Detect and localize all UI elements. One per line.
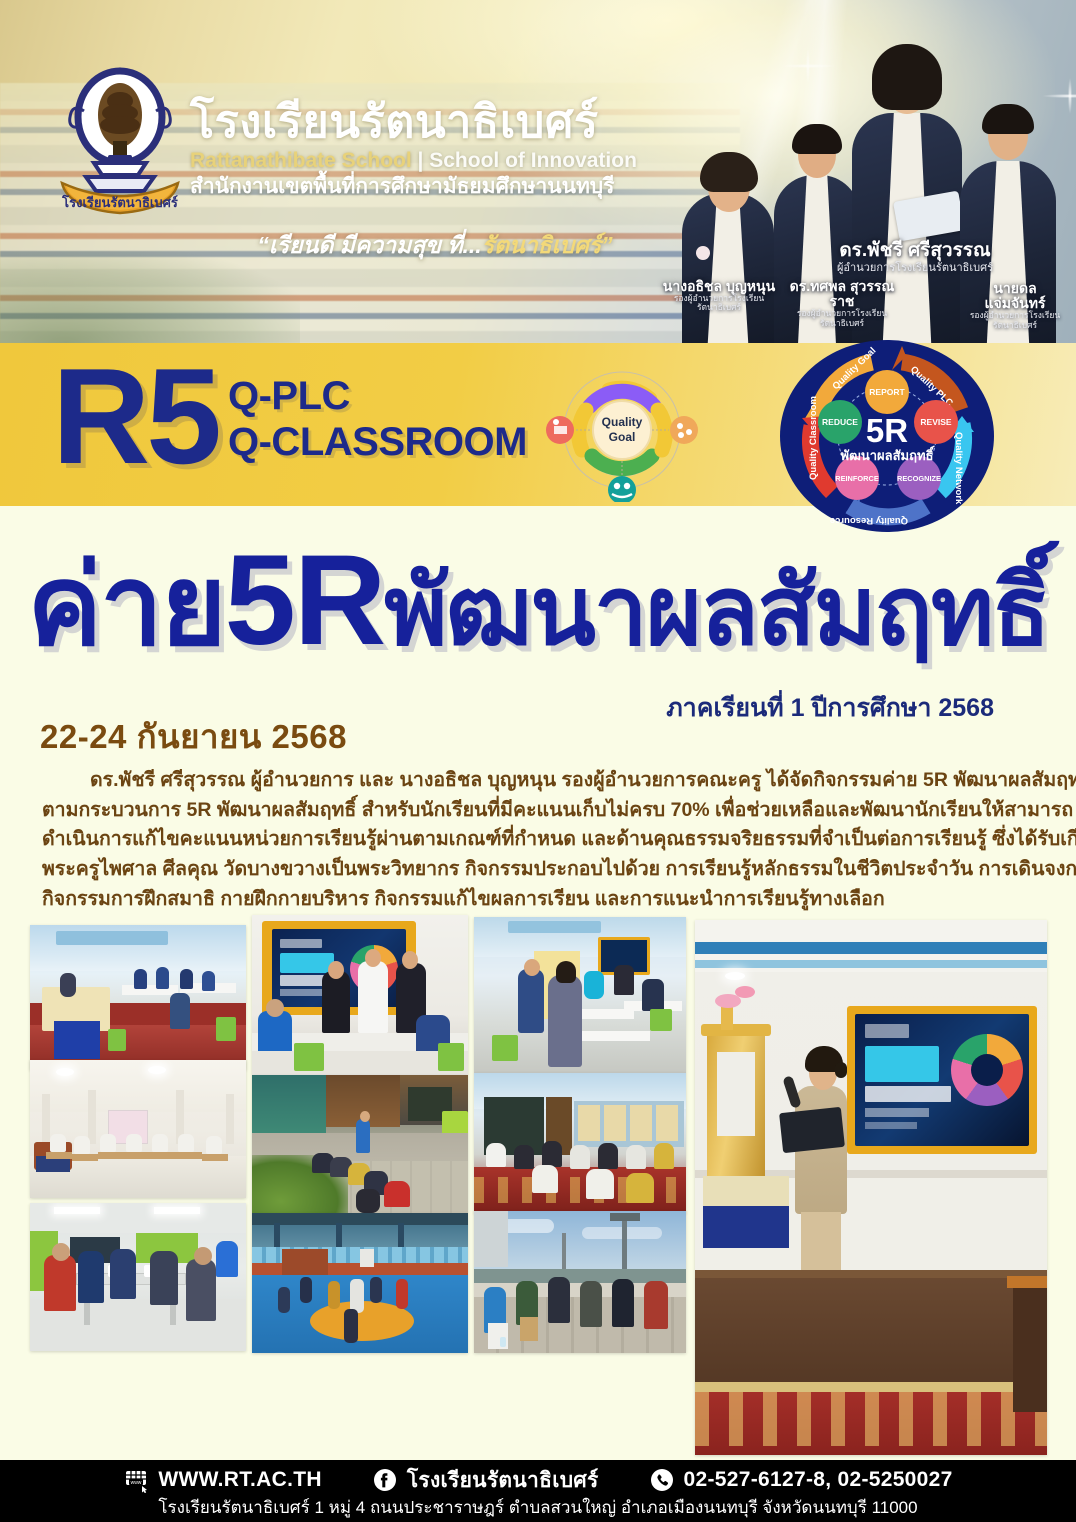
executive-name-block-3: ดร.พัชรี ศรีสุวรรณ ผู้อำนวยการโรงเรียนรั… (836, 241, 994, 274)
executive-name: นายดล แจ่มจันทร์ (962, 281, 1068, 311)
executives-photo-group: นางอธิชล บุญหนุน รองผู้อำนวยการโรงเรียนร… (656, 0, 1076, 343)
semester-label: ภาคเรียนที่ 1 ปีการศึกษา 2568 (666, 688, 994, 728)
footer-facebook-item[interactable]: โรงเรียนรัตนาธิเบศร์ (372, 1464, 599, 1497)
footer-website-item[interactable]: www WWW.RT.AC.TH (123, 1467, 321, 1493)
photo-gallery (0, 915, 1076, 1460)
quality-goal-node-left (546, 416, 574, 444)
quality-goal-node-right (670, 416, 698, 444)
wheel-node-label-0: REPORT (869, 387, 905, 397)
poster-header: โรงเรียนรัตนาธิเบศร์ โรงเรียนรัตนาธิเบศร… (0, 0, 1076, 343)
sparkle-icon (1028, 68, 1076, 124)
executive-name-block-2: ดร.ทศพล สุวรรณราช รองผู้อำนวยการโรงเรียน… (778, 279, 906, 328)
executive-name-block-4: นายดล แจ่มจันทร์ รองผู้อำนวยการโรงเรียนร… (962, 281, 1068, 330)
footer-address: โรงเรียนรัตนาธิเบศร์ 1 หมู่ 4 ถนนประชารา… (0, 1494, 1076, 1521)
r5-subtitle-qclassroom: Q-CLASSROOM (228, 419, 527, 465)
school-name-english-line: Rattanathibate School | School of Innova… (190, 148, 670, 174)
quality-goal-diagram: Quality Goal (540, 362, 705, 502)
svg-text:โรงเรียนรัตนาธิเบศร์: โรงเรียนรัตนาธิเบศร์ (61, 194, 178, 210)
main-title-part1: ค่าย (27, 543, 224, 668)
sparkle-icon (776, 44, 840, 88)
wheel-arrow-label-4: Quality Classroom (808, 396, 819, 480)
wheel-node-label-2: RECOGNIZE (897, 474, 941, 483)
quality-goal-label-2: Goal (609, 430, 636, 444)
photo-riverside-exercise[interactable] (474, 1211, 686, 1353)
school-name-english: Rattanathibate School (190, 149, 412, 172)
wheel-arrow-label-2: Quality Network (953, 432, 964, 505)
main-title: ค่าย5Rพัฒนาผลสัมฤทธิ์ (0, 540, 1076, 663)
description-line: พระครูไพศาล ศีลคุณ วัดบางขวางเป็นพระวิทย… (42, 855, 1038, 885)
main-title-block: ค่าย5Rพัฒนาผลสัมฤทธิ์ ภาคเรียนที่ 1 ปีกา… (0, 540, 1076, 663)
main-title-part2: 5R (225, 529, 385, 672)
wheel-center-subtitle: พัฒนาผลสัมฤทธิ์ (841, 445, 936, 463)
facebook-icon (372, 1467, 398, 1493)
phone-icon (649, 1467, 675, 1493)
photo-walking-meditation[interactable] (252, 1075, 468, 1213)
quality-goal-node-bottom (608, 476, 636, 502)
footer-website-text: WWW.RT.AC.TH (158, 1468, 321, 1492)
poster-footer: www WWW.RT.AC.TH โรงเรียนรัตนาธิเบศร์ (0, 1460, 1076, 1522)
poster-root: โรงเรียนรัตนาธิเบศร์ โรงเรียนรัตนาธิเบศร… (0, 0, 1076, 1522)
executive-name: ดร.พัชรี ศรีสุวรรณ (836, 241, 994, 262)
executive-role: รองผู้อำนวยการโรงเรียนรัตนาธิเบศร์ (660, 294, 778, 313)
description-line: กิจกรรมการฝึกสมาธิ กายฝึกกายบริหาร กิจกร… (42, 885, 1038, 915)
photo-classroom-opening[interactable] (30, 925, 246, 1070)
event-date: 22-24 กันยายน 2568 (40, 710, 347, 763)
wheel-node-label-4: REDUCE (822, 417, 858, 427)
quality-goal-label-1: Quality (602, 415, 643, 429)
photo-basketball-court[interactable] (252, 1213, 468, 1353)
description-line: ดร.พัชรี ศรีสุวรรณ ผู้อำนวยการ และ นางอธ… (42, 766, 1038, 796)
tree-backdrop (0, 251, 300, 343)
footer-facebook-text: โรงเรียนรัตนาธิเบศร์ (407, 1464, 599, 1497)
executive-name: นางอธิชล บุญหนุน (660, 279, 778, 294)
executive-name: ดร.ทศพล สุวรรณราช (778, 279, 906, 309)
executive-role: รองผู้อำนวยการโรงเรียนรัตนาธิเบศร์ (778, 309, 906, 328)
globe-www-icon: www (123, 1467, 149, 1493)
school-motto: “เรียนดี มีความสุข ที่...รัตนาธิเบศร์” (225, 228, 645, 264)
education-office-name: สำนักงานเขตพื้นที่การศึกษามัธยมศึกษานนทบ… (190, 174, 670, 200)
main-title-part3: พัฒนาผลสัมฤทธิ์ (384, 558, 1048, 665)
r5-logo-text: R5 (52, 348, 218, 484)
wheel-node-label-1: REVISE (920, 417, 952, 427)
photo-stage-speakers[interactable] (252, 915, 468, 1075)
photo-classroom-students[interactable] (474, 917, 686, 1073)
photo-meditation-hall[interactable] (30, 1060, 246, 1198)
header-title-block: โรงเรียนรัตนาธิเบศร์ Rattanathibate Scho… (190, 98, 670, 200)
photo-director-speech[interactable] (695, 920, 1047, 1455)
executive-role: ผู้อำนวยการโรงเรียนรัตนาธิเบศร์ (836, 262, 994, 274)
description-line: ตามกระบวนการ 5R พัฒนาผลสัมฤทธิ์ สำหรับนั… (42, 796, 1038, 826)
photo-dharma-session[interactable] (474, 1073, 686, 1213)
wheel-node-label-3: REINFORCE (835, 474, 879, 483)
footer-phone-text: 02-527-6127-8, 02-5250027 (684, 1468, 953, 1492)
r5-subtitle-group: Q-PLC Q-CLASSROOM (228, 373, 527, 466)
motto-prefix: “เรียนดี มีความสุข ที่... (257, 232, 481, 258)
executive-name-block-1: นางอธิชล บุญหนุน รองผู้อำนวยการโรงเรียนร… (660, 279, 778, 313)
footer-phone-item[interactable]: 02-527-6127-8, 02-5250027 (649, 1467, 953, 1493)
footer-contact-row: www WWW.RT.AC.TH โรงเรียนรัตนาธิเบศร์ (0, 1465, 1076, 1495)
wheel-arrow-label-3: Quality Resource (830, 515, 908, 526)
motto-accent: รัตนาธิเบศร์” (482, 232, 613, 258)
school-crest-icon: โรงเรียนรัตนาธิเบศร์ (44, 55, 196, 223)
description-paragraph: ดร.พัชรี ศรีสุวรรณ ผู้อำนวยการ และ นางอธ… (42, 766, 1038, 914)
executive-names-group: นางอธิชล บุญหนุน รองผู้อำนวยการโรงเรียนร… (656, 245, 1068, 325)
executive-role: รองผู้อำนวยการโรงเรียนรัตนาธิเบศร์ (962, 311, 1068, 330)
r5-subtitle-qplc: Q-PLC (228, 373, 527, 419)
description-line: ดำเนินการแก้ไขคะแนนหน่วยการเรียนรู้ผ่านต… (42, 825, 1038, 855)
five-r-wheel-diagram: Quality Goal Quality PLC Quality Network… (780, 340, 995, 532)
photo-dining-hall[interactable] (30, 1203, 246, 1351)
school-tagline-english: | School of Innovation (412, 149, 637, 172)
svg-text:www: www (131, 1480, 142, 1486)
wheel-center-title: 5R (866, 412, 908, 449)
school-name-thai: โรงเรียนรัตนาธิเบศร์ (190, 98, 670, 146)
